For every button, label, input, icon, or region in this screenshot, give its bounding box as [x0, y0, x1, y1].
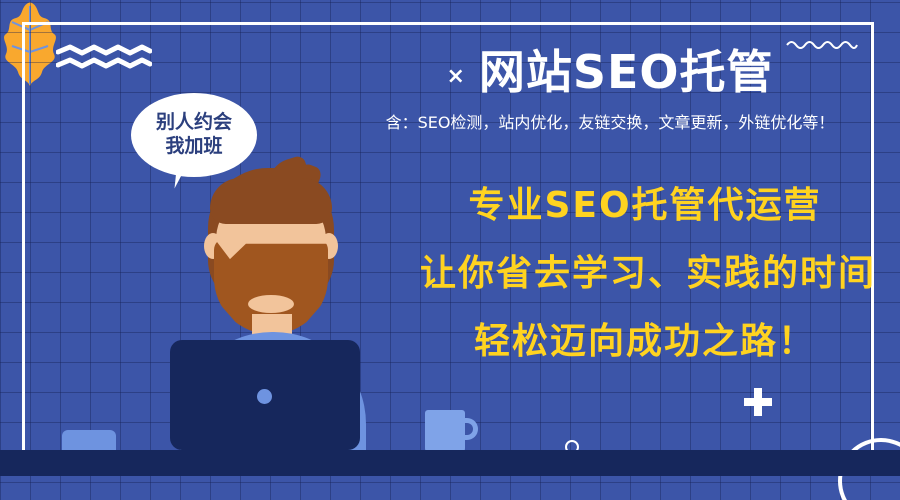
- close-icon: ×: [446, 56, 464, 88]
- desk-surface: [0, 450, 900, 474]
- slogan-block: 专业SEO托管代运营 让你省去学习、实践的时间 轻松迈向成功之路！: [420, 188, 870, 360]
- seo-promo-banner: × 网站SEO托管 含：SEO检测，站内优化，友链交换，文章更新，外链优化等！ …: [0, 0, 900, 500]
- character-mouth: [248, 295, 294, 313]
- headline-block: × 网站SEO托管 含：SEO检测，站内优化，友链交换，文章更新，外链优化等！: [330, 46, 890, 133]
- slogan-line-1: 专业SEO托管代运营: [420, 188, 870, 224]
- slogan-line-2: 让你省去学习、实践的时间: [420, 256, 870, 292]
- desk-edge: [0, 472, 900, 476]
- page-title: 网站SEO托管: [479, 46, 774, 99]
- character-hair-fringe: [210, 178, 332, 224]
- slogan-line-3: 轻松迈向成功之路！: [420, 324, 870, 360]
- laptop-logo-dot: [257, 389, 272, 404]
- speech-bubble-line-1: 别人约会: [156, 111, 232, 135]
- headline-row: × 网站SEO托管: [330, 46, 890, 99]
- speech-bubble: 别人约会 我加班: [131, 93, 257, 177]
- speech-bubble-line-2: 我加班: [165, 135, 222, 159]
- coffee-mug: [425, 410, 465, 455]
- headline-subtitle: 含：SEO检测，站内优化，友链交换，文章更新，外链优化等！: [330, 109, 890, 133]
